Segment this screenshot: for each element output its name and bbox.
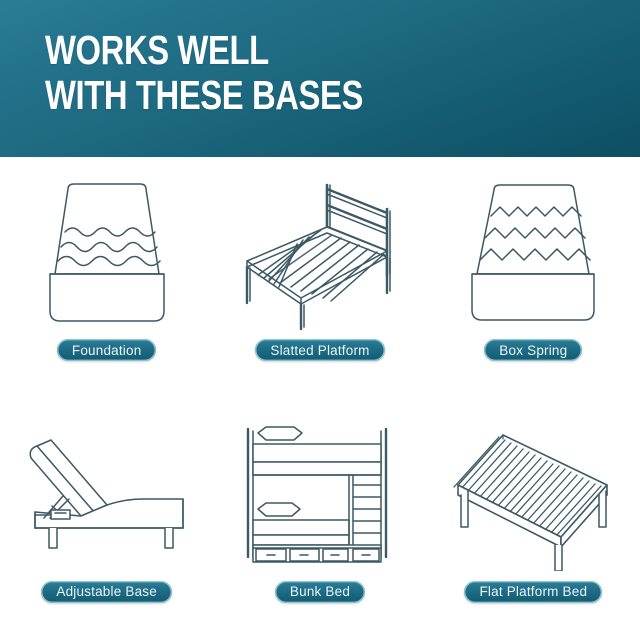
base-label-slatted-platform[interactable]: Slatted Platform bbox=[255, 339, 384, 361]
base-label-flat-platform-bed[interactable]: Flat Platform Bed bbox=[464, 581, 602, 603]
adjustable-base-icon bbox=[0, 415, 213, 575]
base-label-bunk-bed[interactable]: Bunk Bed bbox=[275, 581, 365, 603]
base-label-adjustable-base[interactable]: Adjustable Base bbox=[41, 581, 172, 603]
bunk-bed-icon bbox=[213, 415, 426, 575]
bases-grid: Foundation bbox=[0, 157, 640, 640]
base-card-foundation[interactable]: Foundation bbox=[0, 157, 213, 399]
header-banner: WORKS WELL WITH THESE BASES bbox=[0, 0, 640, 157]
slatted-platform-bed-icon bbox=[213, 173, 426, 333]
box-spring-icon bbox=[427, 173, 640, 333]
base-card-slatted-platform[interactable]: Slatted Platform bbox=[213, 157, 426, 399]
foundation-mattress-icon bbox=[0, 173, 213, 333]
flat-platform-bed-icon bbox=[427, 415, 640, 575]
base-label-foundation[interactable]: Foundation bbox=[57, 339, 157, 361]
base-card-flat-platform-bed[interactable]: Flat Platform Bed bbox=[427, 399, 640, 640]
base-card-box-spring[interactable]: Box Spring bbox=[427, 157, 640, 399]
base-card-adjustable-base[interactable]: Adjustable Base bbox=[0, 399, 213, 640]
page-title: WORKS WELL WITH THESE BASES bbox=[45, 28, 363, 118]
base-label-box-spring[interactable]: Box Spring bbox=[484, 339, 582, 361]
base-card-bunk-bed[interactable]: Bunk Bed bbox=[213, 399, 426, 640]
